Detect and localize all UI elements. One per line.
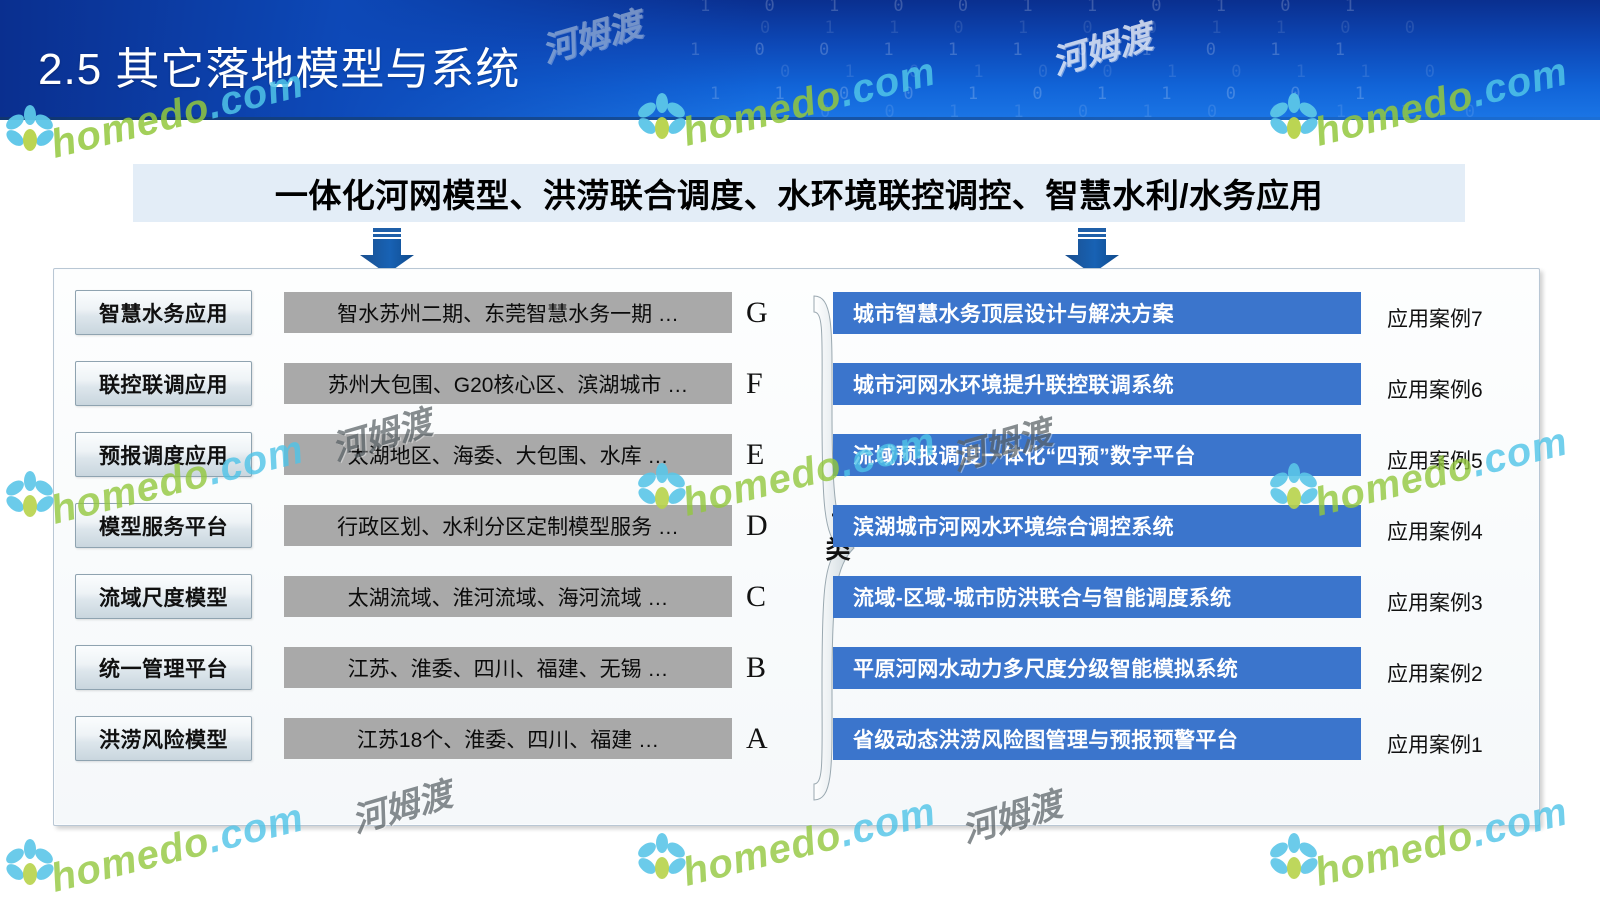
right-case-column: 城市智慧水务顶层设计与解决方案 应用案例7 城市河网水环境提升联控联调系统 应用… <box>833 290 1523 808</box>
table-row[interactable]: 流域尺度模型 太湖流域、淮河流域、海河流域 … C <box>75 574 775 619</box>
list-item[interactable]: 省级动态洪涝风险图管理与预报预警平台 应用案例1 <box>833 716 1523 761</box>
items-box: 苏州大包围、G20核心区、滨湖城市 … <box>284 363 732 404</box>
category-box[interactable]: 统一管理平台 <box>75 645 252 690</box>
category-box[interactable]: 洪涝风险模型 <box>75 716 252 761</box>
table-row[interactable]: 预报调度应用 太湖地区、海委、大包围、水库 … E <box>75 432 775 477</box>
case-number-label: 应用案例7 <box>1387 303 1483 333</box>
row-letter: A <box>746 716 774 761</box>
case-number-label: 应用案例6 <box>1387 374 1483 404</box>
row-letter: B <box>746 645 774 690</box>
header-bottom-accent <box>0 117 1600 120</box>
case-number-label: 应用案例1 <box>1387 729 1483 759</box>
case-number-label: 应用案例5 <box>1387 445 1483 475</box>
items-box: 江苏18个、淮委、四川、福建 … <box>284 718 732 759</box>
category-box[interactable]: 联控联调应用 <box>75 361 252 406</box>
case-number-label: 应用案例3 <box>1387 587 1483 617</box>
list-item[interactable]: 流域预报调度一体化“四预”数字平台 应用案例5 <box>833 432 1523 477</box>
list-item[interactable]: 城市河网水环境提升联控联调系统 应用案例6 <box>833 361 1523 406</box>
homedo-flower-logo-icon <box>4 838 56 890</box>
binary-pattern-row: 1 0 1 0 0 1 1 0 1 0 1 <box>700 0 1377 16</box>
table-row[interactable]: 联控联调应用 苏州大包围、G20核心区、滨湖城市 … F <box>75 361 775 406</box>
subtitle-banner: 一体化河网模型、洪涝联合调度、水环境联控调控、智慧水利/水务应用 <box>133 164 1465 222</box>
left-model-column: 智慧水务应用 智水苏州二期、东莞智慧水务一期 … G 联控联调应用 苏州大包围、… <box>75 290 775 808</box>
subtitle-text: 一体化河网模型、洪涝联合调度、水环境联控调控、智慧水利/水务应用 <box>275 169 1323 217</box>
case-number-label: 应用案例4 <box>1387 516 1483 546</box>
row-letter: C <box>746 574 774 619</box>
case-system-box[interactable]: 流域-区域-城市防洪联合与智能调度系统 <box>833 576 1361 618</box>
items-box: 江苏、淮委、四川、福建、无锡 … <box>284 647 732 688</box>
binary-pattern-row: 1 0 0 1 1 1 0 1 0 1 1 <box>690 40 1367 60</box>
category-box[interactable]: 模型服务平台 <box>75 503 252 548</box>
homedo-flower-logo-icon <box>4 470 56 522</box>
category-box[interactable]: 预报调度应用 <box>75 432 252 477</box>
category-box[interactable]: 流域尺度模型 <box>75 574 252 619</box>
case-system-box[interactable]: 省级动态洪涝风险图管理与预报预警平台 <box>833 718 1361 760</box>
table-row[interactable]: 智慧水务应用 智水苏州二期、东莞智慧水务一期 … G <box>75 290 775 335</box>
items-box: 行政区划、水利分区定制模型服务 … <box>284 505 732 546</box>
binary-pattern-row: 0 1 0 1 0 0 1 0 1 1 0 <box>780 62 1457 82</box>
table-row[interactable]: 洪涝风险模型 江苏18个、淮委、四川、福建 … A <box>75 716 775 761</box>
arrow-cap-bar <box>373 228 401 232</box>
content-panel-inner: 智慧水务应用 智水苏州二期、东莞智慧水务一期 … G 联控联调应用 苏州大包围、… <box>55 270 1538 824</box>
slide-root: 1 0 1 0 0 1 1 0 1 0 1 0 1 1 0 1 0 0 1 1 … <box>0 0 1600 900</box>
arrow-cap-bar <box>1078 234 1106 237</box>
category-box[interactable]: 智慧水务应用 <box>75 290 252 335</box>
content-panel: 智慧水务应用 智水苏州二期、东莞智慧水务一期 … G 联控联调应用 苏州大包围、… <box>53 268 1540 826</box>
table-row[interactable]: 模型服务平台 行政区划、水利分区定制模型服务 … D <box>75 503 775 548</box>
row-letter: F <box>746 361 774 406</box>
list-item[interactable]: 滨湖城市河网水环境综合调控系统 应用案例4 <box>833 503 1523 548</box>
homedo-flower-logo-icon <box>1268 832 1320 884</box>
case-system-box[interactable]: 城市智慧水务顶层设计与解决方案 <box>833 292 1361 334</box>
case-number-label: 应用案例2 <box>1387 658 1483 688</box>
row-letter: E <box>746 432 774 477</box>
table-row[interactable]: 统一管理平台 江苏、淮委、四川、福建、无锡 … B <box>75 645 775 690</box>
binary-pattern-row: 0 1 1 0 1 0 0 1 1 0 0 <box>760 18 1437 38</box>
list-item[interactable]: 流域-区域-城市防洪联合与智能调度系统 应用案例3 <box>833 574 1523 619</box>
homedo-flower-logo-icon <box>636 832 688 884</box>
binary-pattern-row: 1 1 0 0 1 0 1 1 0 0 1 <box>710 84 1387 104</box>
row-letter: D <box>746 503 774 548</box>
list-item[interactable]: 平原河网水动力多尺度分级智能模拟系统 应用案例2 <box>833 645 1523 690</box>
list-item[interactable]: 城市智慧水务顶层设计与解决方案 应用案例7 <box>833 290 1523 335</box>
watermark-brand-part1: homedo <box>46 819 213 900</box>
arrow-cap-bar <box>373 234 401 237</box>
case-system-box[interactable]: 城市河网水环境提升联控联调系统 <box>833 363 1361 405</box>
page-title: 2.5 其它落地模型与系统 <box>38 33 520 97</box>
arrow-cap-bar <box>1078 228 1106 232</box>
items-box: 太湖流域、淮河流域、海河流域 … <box>284 576 732 617</box>
case-system-box[interactable]: 流域预报调度一体化“四预”数字平台 <box>833 434 1361 476</box>
case-system-box[interactable]: 滨湖城市河网水环境综合调控系统 <box>833 505 1361 547</box>
row-letter: G <box>746 290 774 335</box>
items-box: 太湖地区、海委、大包围、水库 … <box>284 434 732 475</box>
items-box: 智水苏州二期、东莞智慧水务一期 … <box>284 292 732 333</box>
case-system-box[interactable]: 平原河网水动力多尺度分级智能模拟系统 <box>833 647 1361 689</box>
